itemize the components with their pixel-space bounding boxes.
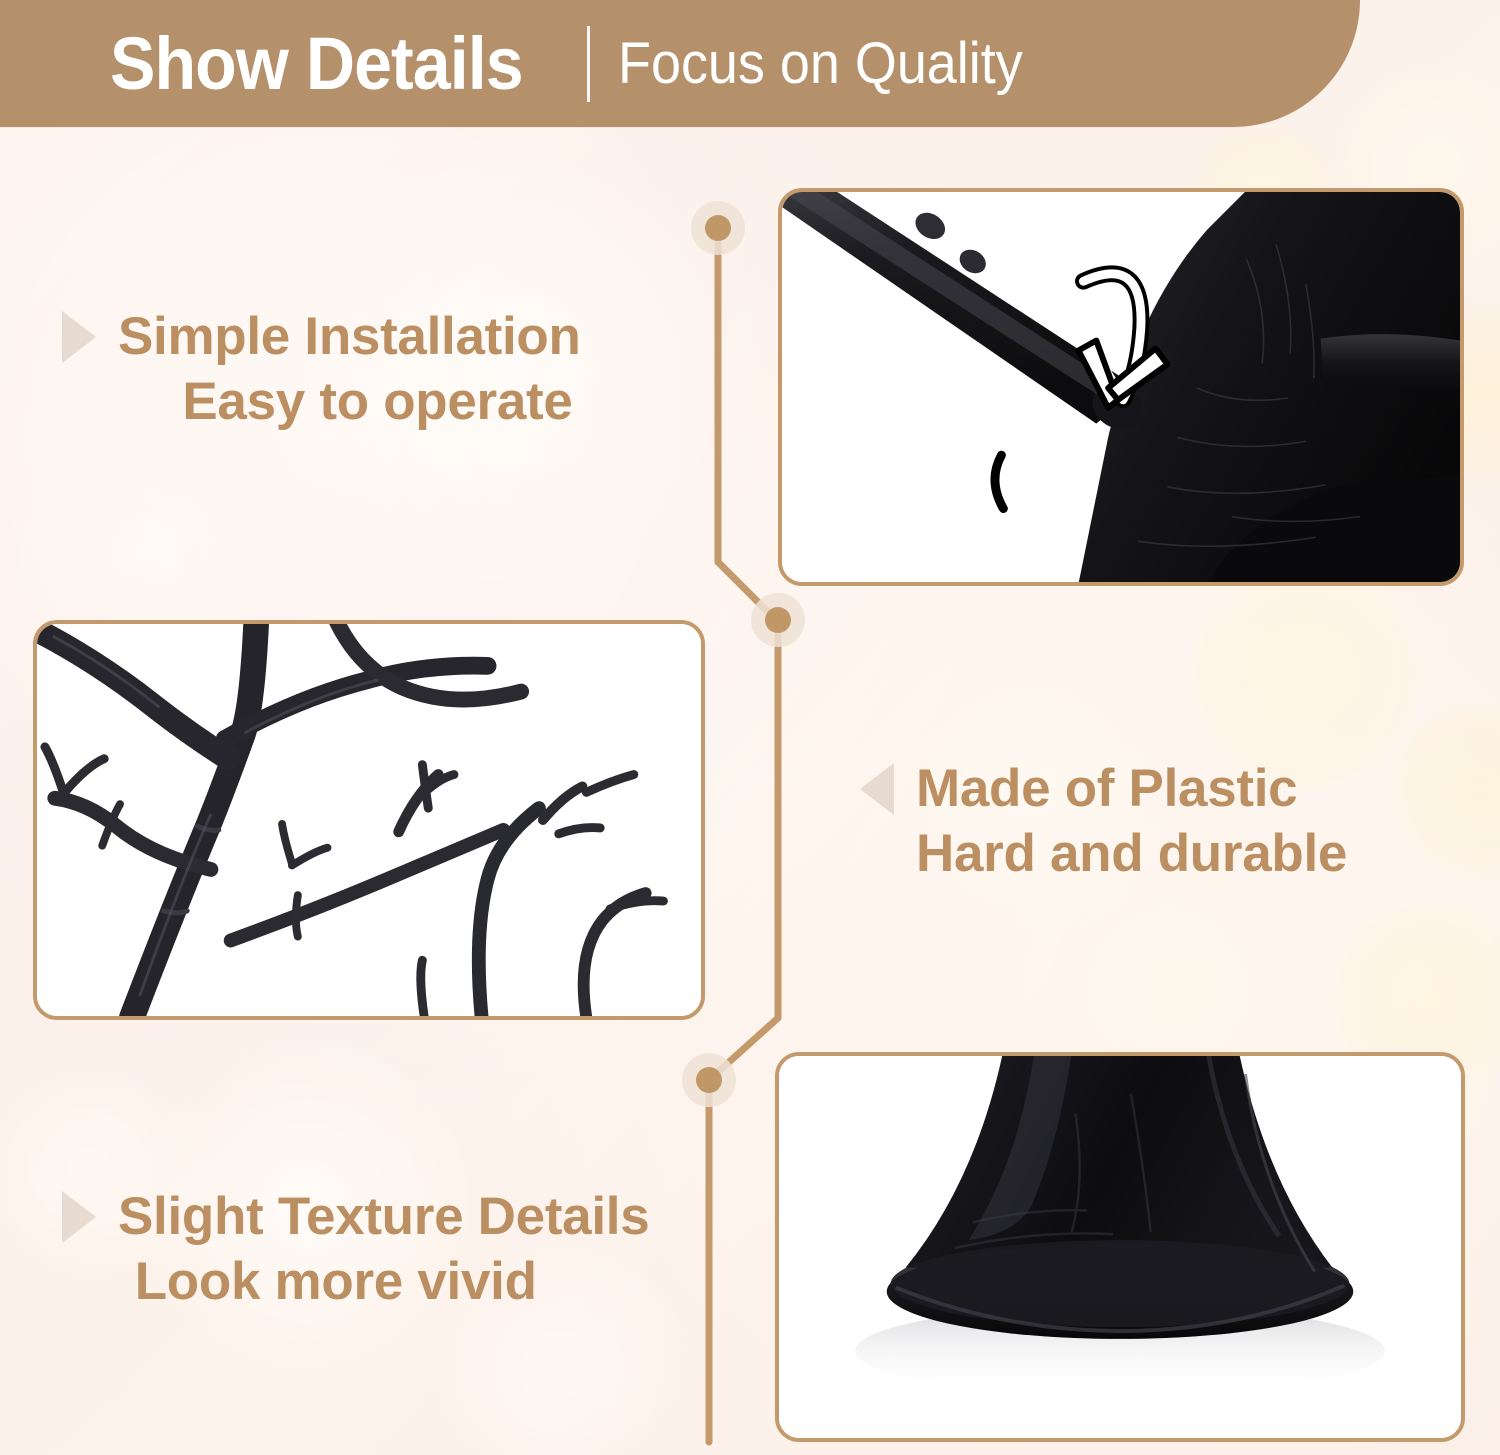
page-subtitle: Focus on Quality xyxy=(618,35,1023,93)
bokeh-light xyxy=(1390,700,1500,880)
feature-heading-row: Made of Plastic xyxy=(860,757,1347,822)
branch-texture-photo-frame xyxy=(33,620,705,1020)
branch-texture-photo xyxy=(37,624,701,1016)
base-stand-photo xyxy=(779,1056,1461,1438)
connector-dot-bottom xyxy=(682,1053,736,1107)
header-banner: Show Details Focus on Quality xyxy=(0,0,1360,127)
feature-line-1: Made of Plastic xyxy=(916,757,1297,822)
title-divider xyxy=(587,26,590,102)
connector-dot-top xyxy=(691,201,745,255)
joint-assembly-photo-frame xyxy=(778,188,1464,586)
feature-made-of-plastic: Made of Plastic Hard and durable xyxy=(860,757,1347,886)
triangle-right-icon xyxy=(62,1191,96,1243)
connector-dot-middle xyxy=(751,593,805,647)
trunk-side-branch xyxy=(1321,334,1460,393)
base-stand-photo-frame xyxy=(775,1052,1465,1442)
feature-line-2: Look more vivid xyxy=(62,1250,649,1315)
bokeh-light xyxy=(1190,560,1420,790)
feature-heading-row: Simple Installation xyxy=(62,305,581,370)
feature-simple-installation: Simple Installation Easy to operate xyxy=(62,305,581,434)
feature-heading-row: Slight Texture Details xyxy=(62,1185,649,1250)
feature-line-2: Easy to operate xyxy=(62,370,581,435)
header-banner-content: Show Details Focus on Quality xyxy=(110,0,1053,127)
feature-line-2: Hard and durable xyxy=(860,822,1347,887)
connector-segment-top xyxy=(718,228,778,622)
base-rim-top xyxy=(891,1240,1350,1327)
joint-assembly-photo xyxy=(782,192,1460,582)
connector-segment-middle xyxy=(709,620,778,1080)
feature-line-1: Simple Installation xyxy=(118,305,581,370)
infographic-canvas: Show Details Focus on Quality xyxy=(0,0,1500,1455)
triangle-right-icon xyxy=(62,311,96,363)
feature-line-1: Slight Texture Details xyxy=(118,1185,649,1250)
feature-slight-texture-details: Slight Texture Details Look more vivid xyxy=(62,1185,649,1314)
page-title: Show Details xyxy=(110,27,523,101)
triangle-left-icon xyxy=(860,763,894,815)
